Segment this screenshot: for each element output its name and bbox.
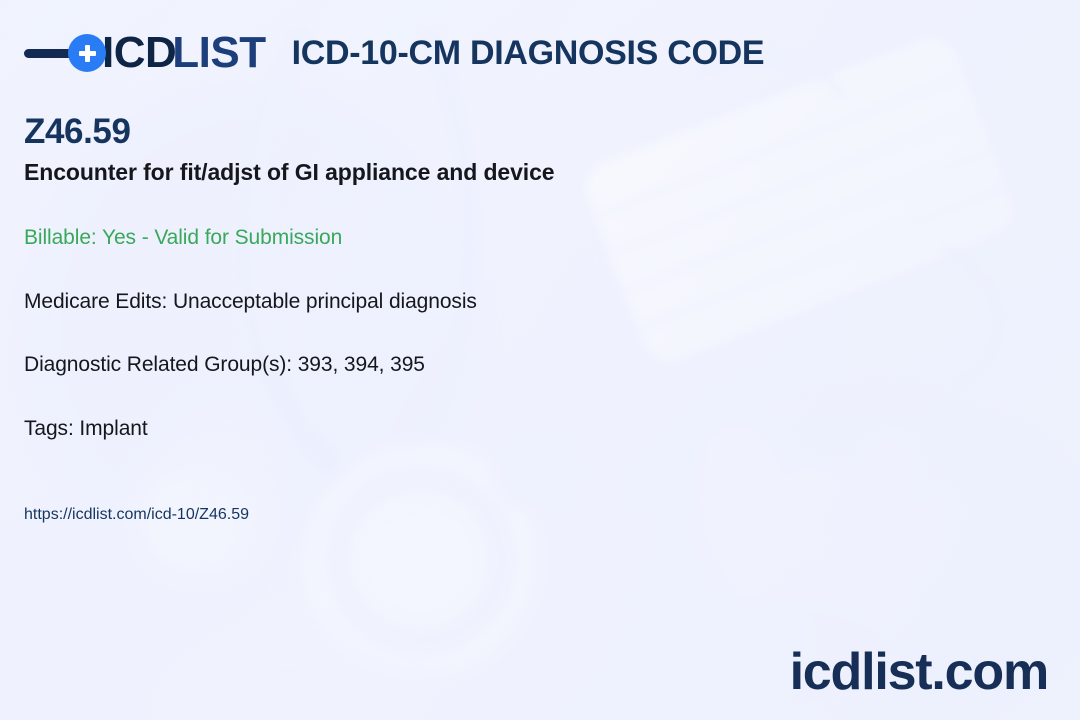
icd-code-description: Encounter for fit/adjst of GI appliance … [24, 159, 924, 187]
logo-text-list: LIST [172, 31, 265, 75]
logo-text-icd: ICD [102, 31, 176, 75]
icdlist-logo[interactable]: ICD LIST [24, 31, 266, 75]
icd-code-card: ICD LIST ICD-10-CM DIAGNOSIS CODE Z46.59… [0, 0, 1080, 720]
diagnostic-related-groups: Diagnostic Related Group(s): 393, 394, 3… [24, 352, 924, 378]
page-title: ICD-10-CM DIAGNOSIS CODE [292, 36, 765, 70]
source-url[interactable]: https://icdlist.com/icd-10/Z46.59 [24, 506, 249, 524]
icd-code-value: Z46.59 [24, 112, 924, 151]
tags: Tags: Implant [24, 416, 924, 442]
code-details: Z46.59 Encounter for fit/adjst of GI app… [24, 112, 924, 442]
footer-brand: icdlist.com [790, 646, 1048, 698]
plus-circle-icon [68, 34, 106, 72]
header: ICD LIST ICD-10-CM DIAGNOSIS CODE [24, 24, 764, 82]
medicare-edits: Medicare Edits: Unacceptable principal d… [24, 289, 924, 315]
billable-status: Billable: Yes - Valid for Submission [24, 225, 924, 251]
